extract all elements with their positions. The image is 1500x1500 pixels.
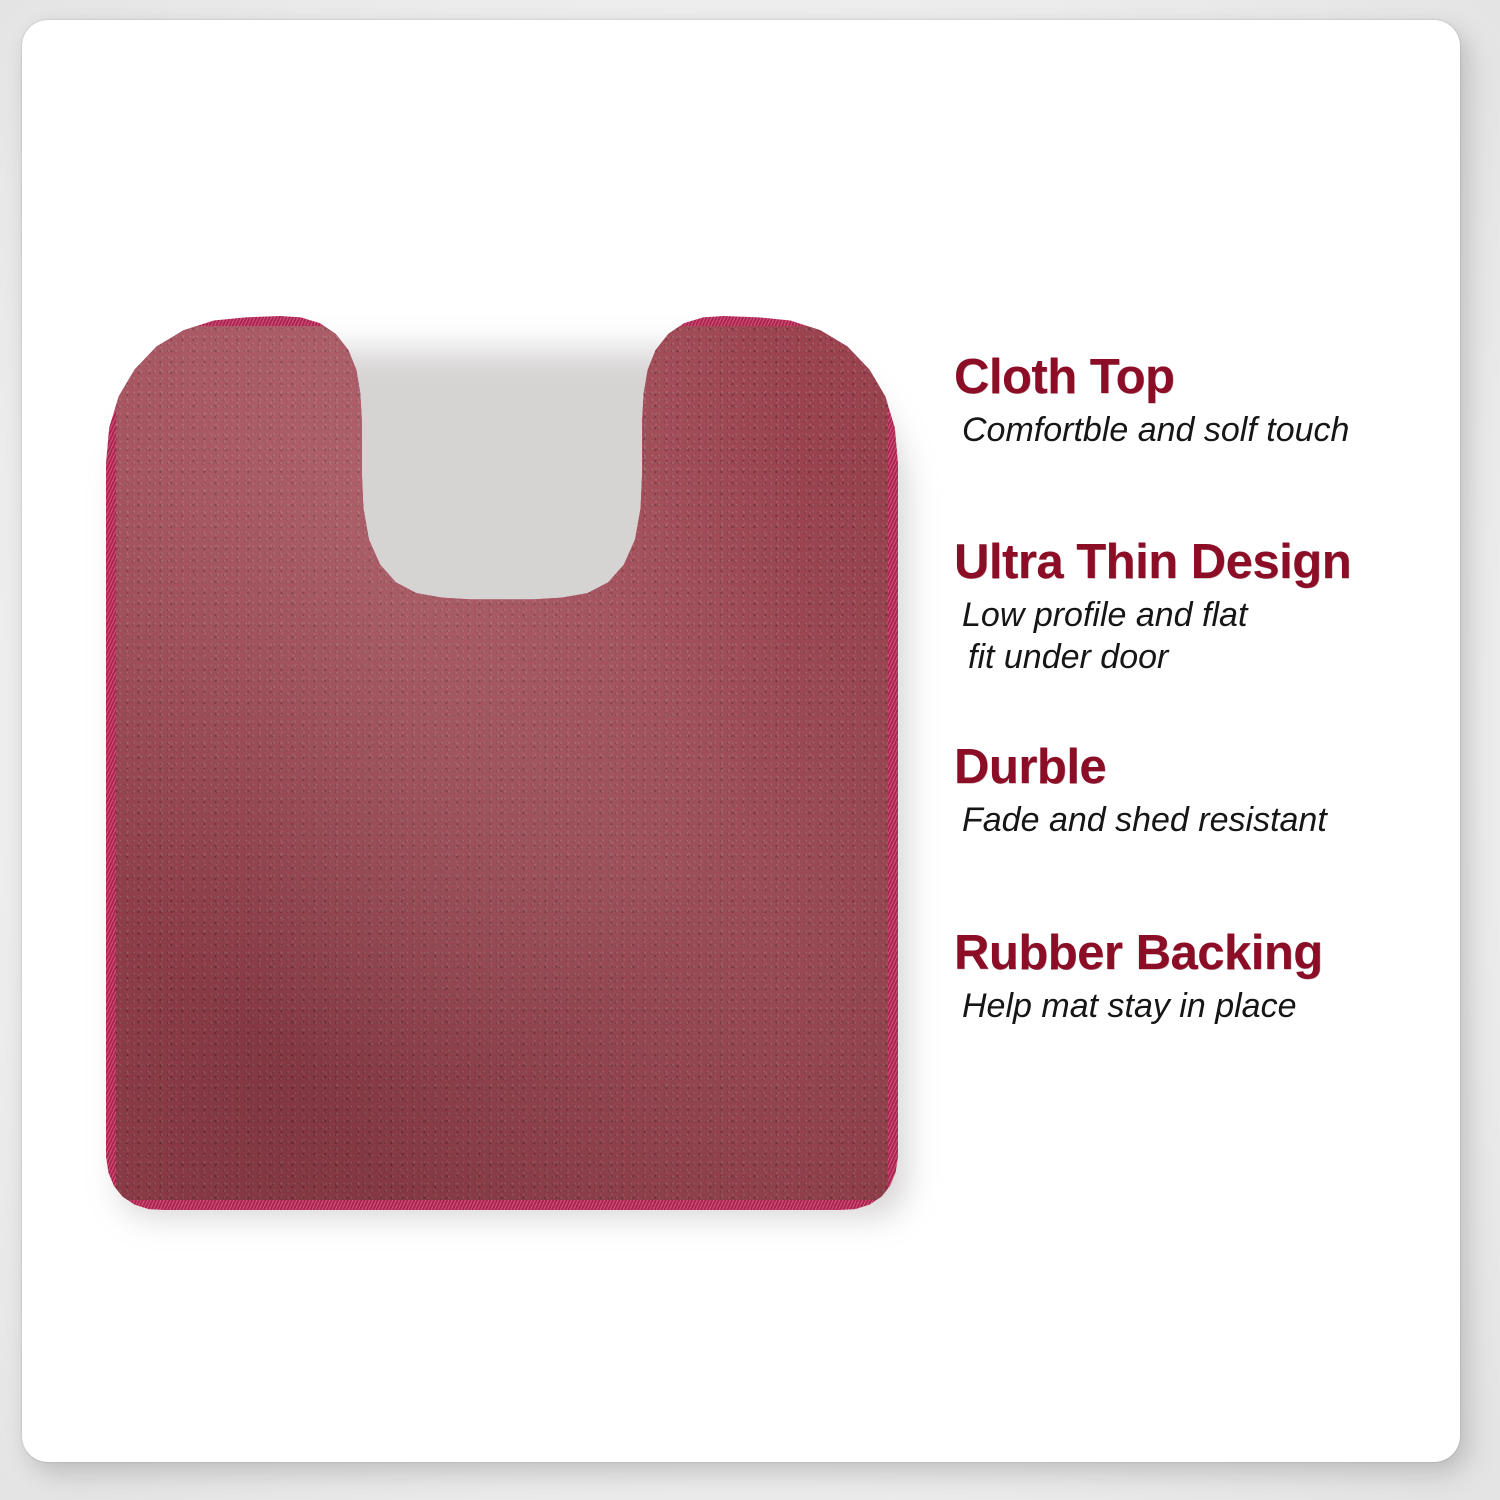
feature-subtitle-line-1: Low profile and flat — [962, 596, 1247, 634]
feature-subtitle-line-1: Help mat stay in place — [962, 987, 1297, 1025]
feature-title: Cloth Top — [954, 352, 1474, 403]
feature-subtitle: Fade and shed resistant — [954, 800, 1474, 841]
product-image-contour-mat — [106, 316, 906, 1216]
product-info-card: Cloth Top Comfortble and solf touch Ultr… — [22, 20, 1460, 1462]
feature-subtitle: Comfortble and solf touch — [954, 410, 1474, 451]
feature-block-durble: Durble Fade and shed resistant — [954, 742, 1474, 841]
feature-subtitle-line-2: fit under door — [962, 637, 1474, 678]
feature-list: Cloth Top Comfortble and solf touch Ultr… — [954, 352, 1474, 1027]
feature-subtitle-line-1: Comfortble and solf touch — [962, 411, 1349, 449]
feature-block-rubber-backing: Rubber Backing Help mat stay in place — [954, 928, 1474, 1027]
feature-subtitle-line-1: Fade and shed resistant — [962, 801, 1327, 839]
feature-title: Rubber Backing — [954, 928, 1474, 979]
feature-subtitle: Help mat stay in place — [954, 986, 1474, 1027]
feature-block-cloth-top: Cloth Top Comfortble and solf touch — [954, 352, 1474, 451]
feature-title: Durble — [954, 742, 1474, 793]
feature-subtitle: Low profile and flat fit under door — [954, 595, 1474, 678]
feature-block-ultra-thin-design: Ultra Thin Design Low profile and flat f… — [954, 537, 1474, 678]
feature-title: Ultra Thin Design — [954, 537, 1474, 588]
